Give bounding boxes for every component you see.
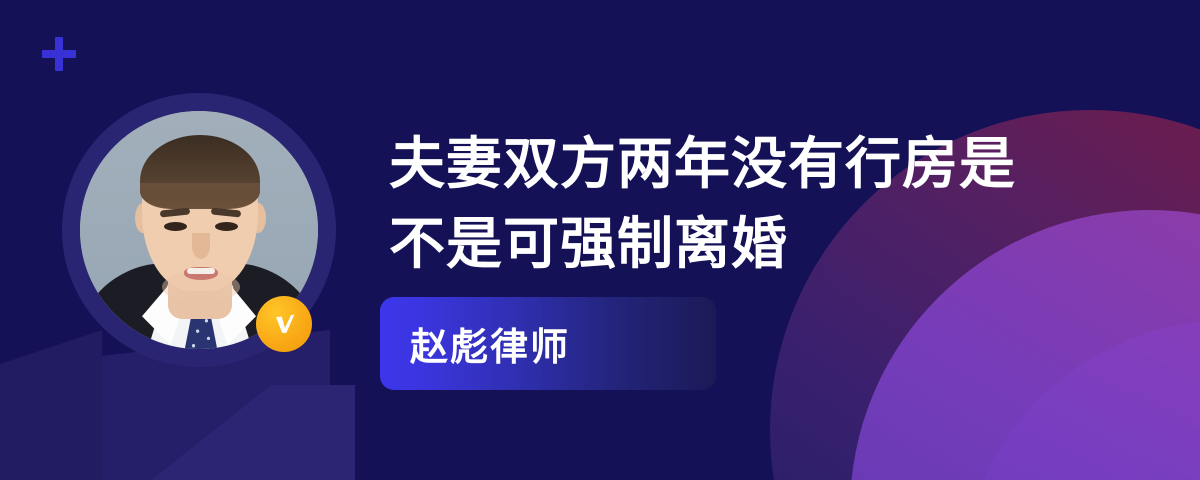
lawyer-qa-banner: 夫妻双方两年没有行房是 不是可强制离婚 赵彪律师 xyxy=(0,0,1200,480)
plus-icon xyxy=(42,37,76,71)
decorative-polygon-mid xyxy=(145,385,355,480)
verified-badge-icon xyxy=(256,296,312,352)
decorative-arc-core xyxy=(960,320,1200,480)
lawyer-name-button[interactable]: 赵彪律师 xyxy=(380,297,716,390)
page-title: 夫妻双方两年没有行房是 不是可强制离婚 xyxy=(389,124,1089,284)
